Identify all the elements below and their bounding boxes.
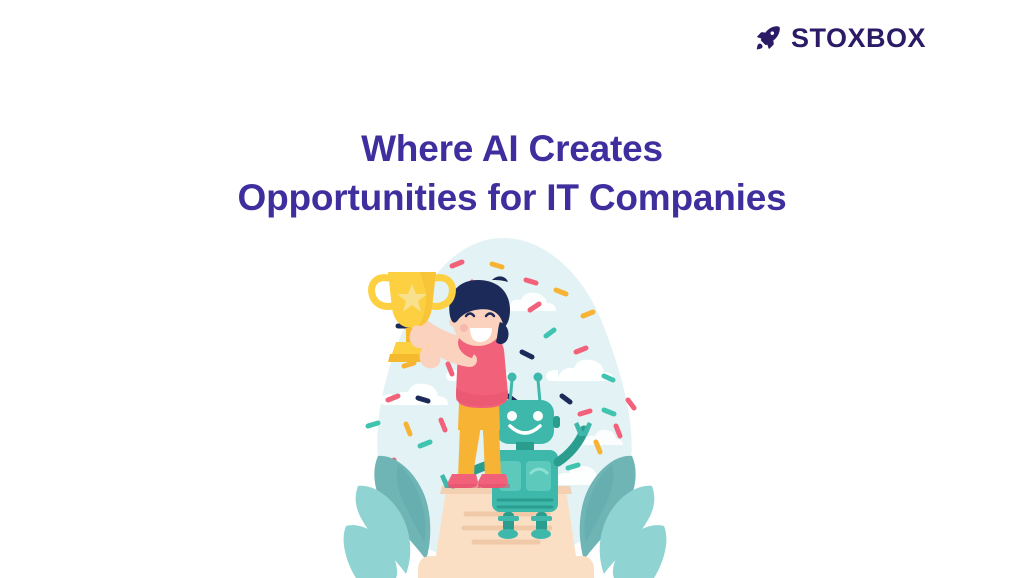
robot-eye-left	[507, 411, 517, 421]
robot-eye-right	[533, 411, 543, 421]
robot-foot-right	[531, 529, 551, 539]
robot-foot-left	[498, 529, 518, 539]
robot-antenna-bulb-left	[508, 373, 517, 382]
page-title-line-1: Where AI Creates	[0, 125, 1024, 174]
robot-head	[496, 400, 554, 444]
robot-antenna-bulb-right	[534, 373, 543, 382]
page-title-line-2: Opportunities for IT Companies	[0, 174, 1024, 223]
page-title: Where AI Creates Opportunities for IT Co…	[0, 125, 1024, 223]
brand-name: STOXBOX	[791, 25, 926, 52]
boy-with-trophy-and-robot-illustration	[340, 230, 670, 578]
brand-logo[interactable]: STOXBOX	[754, 24, 926, 52]
rocket-icon	[754, 24, 782, 52]
